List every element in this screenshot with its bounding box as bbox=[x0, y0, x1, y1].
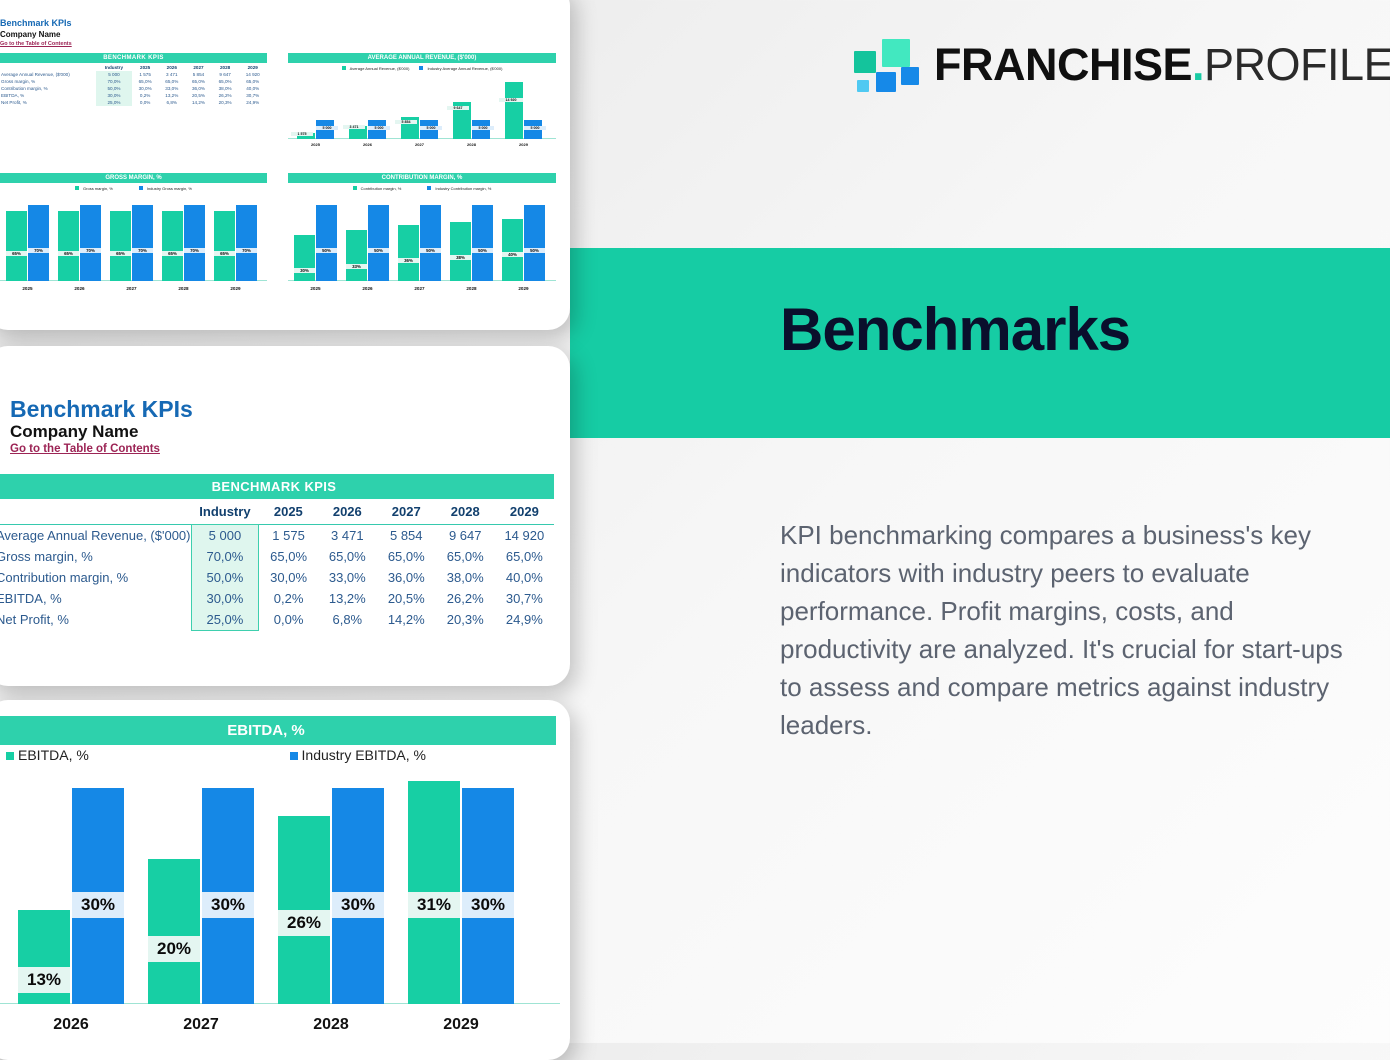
table-row: Net Profit, % 25,0% 0,0% 6,8% 14,2% 20,3… bbox=[0, 609, 554, 631]
mini-revenue-title: AVERAGE ANNUAL REVENUE, ($'000) bbox=[288, 53, 556, 63]
kpi-table-card: Benchmark KPIs Company Name Go to the Ta… bbox=[0, 346, 570, 686]
table-row: Average Annual Revenue, ($'000) 5 000 1 … bbox=[0, 71, 267, 78]
mini-col-2025: 2025 bbox=[132, 64, 159, 71]
mini-col-industry: Industry bbox=[96, 64, 132, 71]
kpi-table-header-row: Industry 2025 2026 2027 2028 2029 bbox=[0, 499, 554, 525]
section-description: KPI benchmarking compares a business's k… bbox=[780, 516, 1370, 744]
kpi-table-wrap: BENCHMARK KPIS Industry 2025 2026 2027 2… bbox=[0, 474, 554, 631]
blue-square-2-icon bbox=[901, 67, 919, 85]
legend-item: EBITDA, % bbox=[6, 747, 89, 763]
mini-revenue-chart: AVERAGE ANNUAL REVENUE, ($'000) Average … bbox=[288, 53, 556, 157]
sheet-title-small: Benchmark KPIs bbox=[0, 18, 72, 28]
mini-gross-margin-chart: GROSS MARGIN, % Gross margin, % Industry… bbox=[0, 173, 267, 303]
table-row: Gross margin, % 70,0% 65,0% 65,0% 65,0% … bbox=[0, 546, 554, 567]
mint-square-icon bbox=[882, 39, 910, 67]
table-row: Average Annual Revenue, ($'000) 5 000 1 … bbox=[0, 525, 554, 547]
blue-square-icon bbox=[876, 72, 896, 92]
sheet-subtitle-small: Company Name bbox=[0, 30, 60, 39]
mini-gross-legend: Gross margin, % Industry Gross margin, % bbox=[0, 186, 267, 191]
col-2025: 2025 bbox=[259, 499, 318, 525]
ebitda-plot: 30% 2025 13% 30% 2026 20% 30% 2027 26% 3… bbox=[0, 776, 570, 1048]
brand-logo: FRANCHISE.PROFILES bbox=[852, 36, 1390, 92]
logo-bold-text: FRANCHISE bbox=[934, 39, 1192, 90]
legend-item: Industry Gross margin, % bbox=[139, 186, 192, 191]
mini-gross-title: GROSS MARGIN, % bbox=[0, 173, 267, 183]
mini-col-2027: 2027 bbox=[185, 64, 212, 71]
mini-col-2029: 2029 bbox=[238, 64, 267, 71]
mini-table-header-row: Industry 2025 2026 2027 2028 2029 bbox=[0, 64, 267, 71]
legend-item: Industry Average Annual Revenue, ($'000) bbox=[419, 66, 502, 71]
col-2027: 2027 bbox=[377, 499, 436, 525]
mini-contribution-plot: 30% 50% 2025 33% 50% 2026 36% 50% 2027 3… bbox=[288, 193, 556, 293]
legend-item: Contribution margin, % bbox=[353, 186, 402, 191]
sheet-subtitle: Company Name bbox=[10, 422, 138, 442]
toc-link[interactable]: Go to the Table of Contents bbox=[10, 443, 160, 455]
col-2026: 2026 bbox=[318, 499, 377, 525]
table-row: Contribution margin, % 50,0% 30,0% 33,0%… bbox=[0, 85, 267, 92]
ebitda-legend: EBITDA, % Industry EBITDA, % bbox=[6, 747, 426, 763]
mini-contribution-title: CONTRIBUTION MARGIN, % bbox=[288, 173, 556, 183]
table-row: EBITDA, % 30,0% 0,2% 13,2% 20,5% 26,2% 3… bbox=[0, 588, 554, 609]
legend-item: Average Annual Revenue, ($'000) bbox=[342, 66, 410, 71]
logo-mosaic-icon bbox=[852, 36, 914, 92]
logo-wordmark: FRANCHISE.PROFILES bbox=[934, 42, 1390, 87]
mini-col-2026: 2026 bbox=[158, 64, 185, 71]
section-title: Benchmarks bbox=[780, 300, 1390, 360]
logo-dot: . bbox=[1192, 39, 1204, 90]
sky-square-icon bbox=[857, 80, 869, 92]
mini-col-2028: 2028 bbox=[212, 64, 239, 71]
table-row: Net Profit, % 25,0% 0,0% 6,8% 14,2% 20,3… bbox=[0, 99, 267, 106]
mini-contribution-chart: CONTRIBUTION MARGIN, % Contribution marg… bbox=[288, 173, 556, 303]
logo-light-text: PROFILES bbox=[1204, 39, 1390, 90]
sheet-title: Benchmark KPIs bbox=[10, 396, 193, 423]
table-row: Gross margin, % 70,0% 65,0% 65,0% 65,0% … bbox=[0, 78, 267, 85]
toc-link-small[interactable]: Go to the Table of Contents bbox=[0, 41, 72, 47]
ebitda-chart-card: EBITDA, % EBITDA, % Industry EBITDA, % 3… bbox=[0, 700, 570, 1060]
legend-item: Industry Contribution margin, % bbox=[427, 186, 491, 191]
right-panel: FRANCHISE.PROFILES Benchmarks KPI benchm… bbox=[570, 0, 1390, 1043]
mini-table: Industry 2025 2026 2027 2028 2029 Averag… bbox=[0, 64, 267, 106]
kpi-table-banner: BENCHMARK KPIS bbox=[0, 474, 554, 499]
dashboard-preview-card: Benchmark KPIs Company Name Go to the Ta… bbox=[0, 0, 570, 330]
mini-gross-plot: 65% 70% 2025 65% 70% 2026 65% 70% 2027 6… bbox=[0, 193, 267, 293]
col-2028: 2028 bbox=[436, 499, 495, 525]
table-row: Contribution margin, % 50,0% 30,0% 33,0%… bbox=[0, 567, 554, 588]
mini-revenue-plot: 1 575 5 000 2025 3 471 5 000 2026 5 854 … bbox=[288, 73, 556, 148]
teal-square-icon bbox=[854, 51, 876, 73]
mini-table-banner: BENCHMARK KPIS bbox=[0, 53, 267, 63]
col-2029: 2029 bbox=[495, 499, 554, 525]
mini-kpi-table: BENCHMARK KPIS Industry 2025 2026 2027 2… bbox=[0, 53, 267, 106]
legend-item: Gross margin, % bbox=[75, 186, 113, 191]
ebitda-chart-title: EBITDA, % bbox=[0, 716, 556, 745]
mini-contribution-legend: Contribution margin, % Industry Contribu… bbox=[288, 186, 556, 191]
mini-revenue-legend: Average Annual Revenue, ($'000) Industry… bbox=[288, 66, 556, 71]
kpi-table: Industry 2025 2026 2027 2028 2029 Averag… bbox=[0, 499, 554, 631]
legend-item: Industry EBITDA, % bbox=[290, 747, 426, 763]
table-row: EBITDA, % 30,0% 0,2% 13,2% 20,5% 26,2% 3… bbox=[0, 92, 267, 99]
col-industry: Industry bbox=[191, 499, 259, 525]
